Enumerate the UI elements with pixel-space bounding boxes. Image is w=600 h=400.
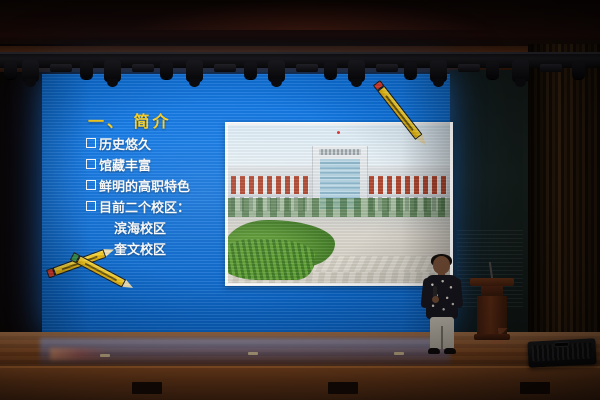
presenter-leg-split	[441, 326, 443, 349]
presenter-top	[426, 275, 458, 319]
floor-monitor-speaker	[527, 338, 596, 368]
stage-light-icon	[296, 64, 318, 72]
floor-marker	[394, 352, 404, 355]
photo-tower-crown	[319, 149, 362, 155]
stage-light-icon	[348, 60, 365, 82]
stage-light-icon	[376, 64, 398, 72]
presenter-top-pattern	[426, 275, 458, 319]
presenter	[420, 256, 464, 358]
slide-photo-frame	[225, 122, 453, 286]
floor-marker	[248, 352, 258, 355]
presenter-shoe	[428, 348, 440, 354]
stage-light-icon	[324, 62, 337, 79]
apron-vent	[132, 382, 162, 394]
apron-vent	[520, 382, 550, 394]
auditorium-scene: 一、 简介 历史悠久 馆藏丰富 鲜明的高职特色 目前二个校区： 滨海校区 奎文校…	[0, 0, 600, 400]
podium-base	[474, 334, 510, 340]
pencil-body	[76, 255, 126, 287]
list-item: 目前二个校区：	[86, 197, 246, 218]
stage-light-icon	[4, 62, 17, 79]
apron-vent	[328, 382, 358, 394]
stage-apron	[0, 368, 600, 400]
sub-list-item: 滨海校区	[86, 218, 246, 239]
stage-light-icon	[50, 64, 72, 72]
bullet-text: 目前二个校区：	[99, 200, 190, 215]
bullet-text: 馆藏丰富	[99, 158, 151, 173]
stage-light-icon	[104, 60, 121, 82]
stage-light-icon	[186, 60, 203, 82]
stage-light-icon	[404, 62, 417, 79]
podium-top	[470, 278, 514, 286]
stage-light-icon	[244, 62, 257, 79]
presenter-shoe	[444, 348, 456, 354]
presenter-hand	[432, 296, 439, 303]
square-bullet-icon	[86, 159, 96, 169]
stage-light-icon	[458, 64, 480, 72]
stage-light-icon	[80, 62, 93, 79]
campus-building-photo	[228, 125, 450, 283]
list-item: 馆藏丰富	[86, 155, 246, 176]
stage-light-icon	[214, 64, 236, 72]
stage-light-icon	[540, 64, 562, 72]
stage-light-icon	[268, 60, 285, 82]
stage-light-icon	[430, 60, 447, 82]
stage-light-icon	[132, 64, 154, 72]
list-item: 鲜明的高职特色	[86, 176, 246, 197]
photo-brick-band	[231, 176, 309, 194]
photo-brick-band	[369, 176, 447, 194]
stage-curtain-shadow	[528, 44, 600, 344]
square-bullet-icon	[86, 180, 96, 190]
slide-bullet-list: 历史悠久 馆藏丰富 鲜明的高职特色 目前二个校区： 滨海校区 奎文校区	[86, 134, 246, 260]
stage-light-icon	[160, 62, 173, 79]
podium-body	[477, 296, 507, 334]
stage-light-icon	[572, 62, 585, 79]
square-bullet-icon	[86, 201, 96, 211]
projection-screen[interactable]: 一、 简介 历史悠久 馆藏丰富 鲜明的高职特色 目前二个校区： 滨海校区 奎文校…	[42, 74, 450, 332]
wooden-podium	[470, 278, 514, 340]
slide-title: 一、 简介	[88, 108, 171, 132]
list-item: 历史悠久	[86, 134, 246, 155]
pencil-tip	[122, 280, 135, 292]
floor-marker	[100, 354, 110, 357]
stage-light-icon	[512, 60, 529, 82]
speaker-handle	[553, 342, 569, 348]
bullet-text: 鲜明的高职特色	[99, 179, 190, 194]
bullet-text: 历史悠久	[99, 137, 151, 152]
truss-bar	[0, 52, 600, 54]
stage-light-icon	[22, 60, 39, 82]
photo-shrubbery-front	[228, 239, 315, 280]
stage-light-icon	[486, 62, 499, 79]
ceiling-glow	[120, 0, 500, 30]
square-bullet-icon	[86, 138, 96, 148]
podium-neck	[481, 286, 503, 296]
